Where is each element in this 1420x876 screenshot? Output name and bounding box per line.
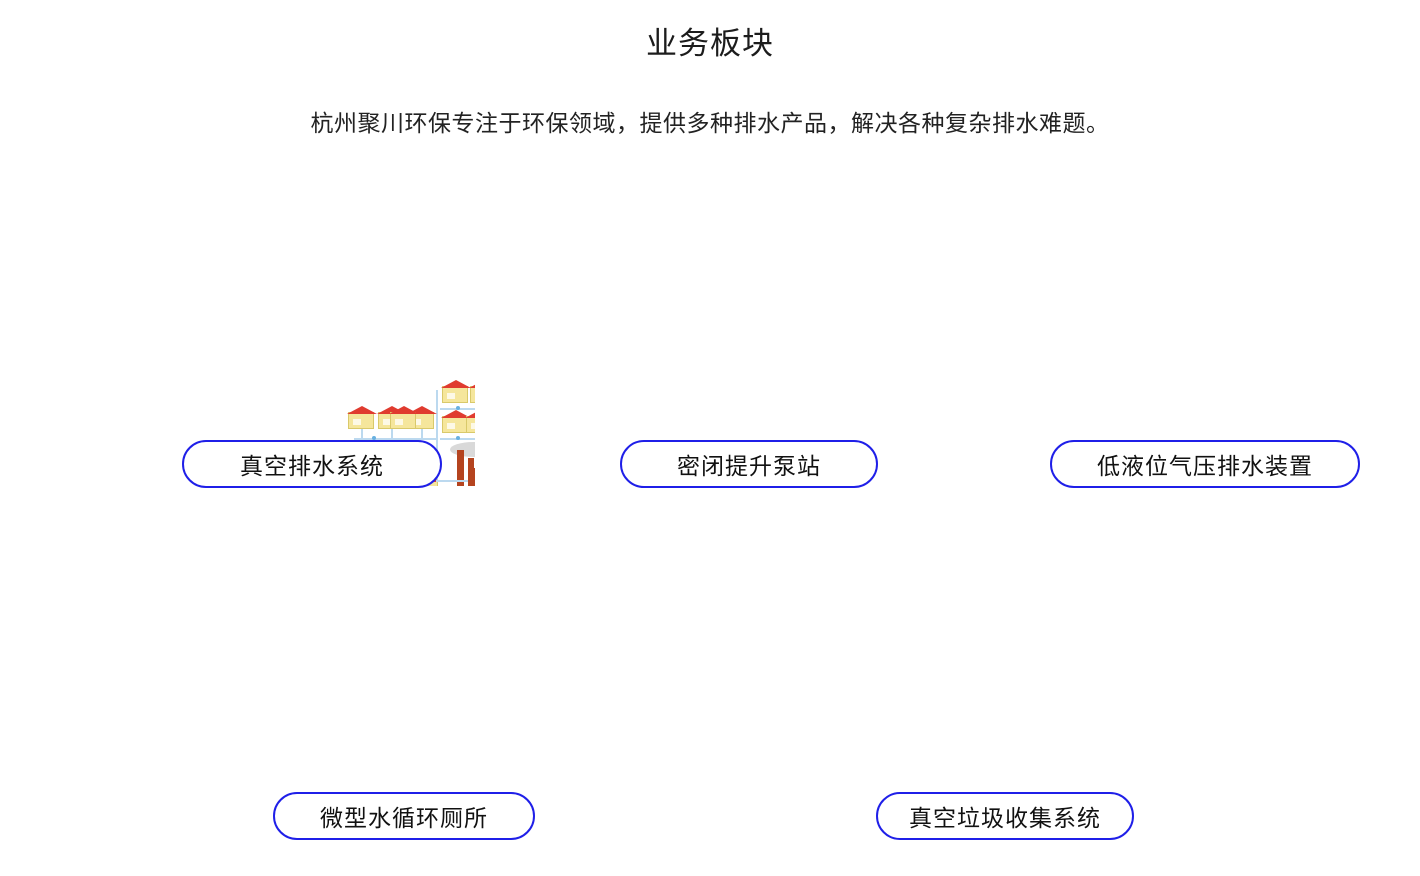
card-label-vacuum-drainage-system[interactable]: 真空排水系统 [182, 440, 442, 488]
product-card-closed-lifting-pump-station[interactable]: 密闭提升泵站 [580, 186, 940, 486]
card-label-vacuum-garbage-collection-system[interactable]: 真空垃圾收集系统 [876, 792, 1134, 840]
card-label-closed-lifting-pump-station[interactable]: 密闭提升泵站 [620, 440, 878, 488]
product-card-vacuum-drainage-system[interactable]: 真空井 真空机组 污水处理厂 [150, 186, 475, 486]
product-card-micro-water-circulation-toilet[interactable]: 清水 清水 地漏 [180, 540, 630, 850]
page-title: 业务板块 [0, 18, 1420, 63]
card-label-micro-water-circulation-toilet[interactable]: 微型水循环厕所 [273, 792, 535, 840]
business-sectors-page: 业务板块 杭州聚川环保专注于环保领域，提供多种排水产品，解决各种复杂排水难题。 [0, 0, 1420, 876]
card-label-low-level-pneumatic-drainage-device[interactable]: 低液位气压排水装置 [1050, 440, 1360, 488]
page-subtitle: 杭州聚川环保专注于环保领域，提供多种排水产品，解决各种复杂排水难题。 [0, 104, 1420, 138]
product-card-low-level-pneumatic-drainage-device[interactable]: 低液位气压排水装置 [1040, 186, 1370, 486]
product-card-vacuum-garbage-collection-system[interactable]: ⑥污水混合输送回流 厨余垃圾 ①粉碎 [780, 540, 1210, 850]
